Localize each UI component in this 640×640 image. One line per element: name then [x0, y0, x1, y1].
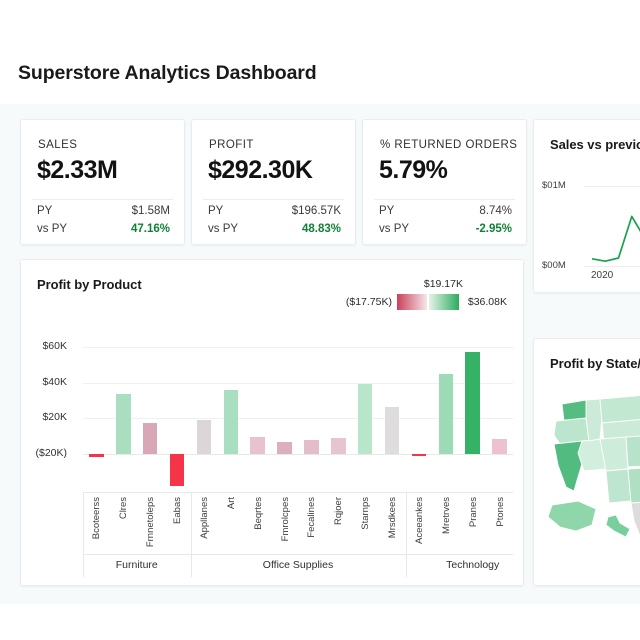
y-axis-tick: ($20K): [35, 447, 67, 459]
bar[interactable]: [170, 454, 185, 486]
legend-high-label: $36.08K: [468, 296, 507, 308]
axis-separator: [191, 493, 192, 555]
category-group-label: Technology: [406, 559, 540, 571]
profit-by-state-panel[interactable]: Profit by State/: [533, 338, 640, 586]
panel-title: Sales vs previo: [550, 137, 640, 152]
legend-ramp-positive: [429, 294, 459, 310]
divider: [32, 199, 173, 200]
x-axis-tick-label: Aceeankes: [414, 497, 425, 544]
map-region[interactable]: [586, 399, 602, 441]
us-choropleth-map[interactable]: [534, 391, 640, 585]
axis-separator: [406, 493, 407, 555]
kpi-comparison-rows: PY $1.58M vs PY 47.16%: [37, 205, 170, 241]
x-axis-tick-label: Mrsdkees: [387, 497, 398, 538]
x-axis-tick-label: Clres: [118, 497, 129, 519]
x-axis-tick-label: Rqjoer: [333, 497, 344, 525]
x-axis-tick: 2020: [591, 270, 613, 281]
bar[interactable]: [250, 437, 265, 454]
bar[interactable]: [277, 442, 292, 455]
kpi-card-sales[interactable]: SALES $2.33M PY $1.58M vs PY 47.16%: [20, 119, 185, 245]
kpi-value: $292.30K: [208, 156, 312, 185]
x-axis-tick-label: Frnnetoleps: [145, 497, 156, 547]
map-svg: [534, 391, 640, 585]
kpi-py-value: 8.74%: [479, 205, 512, 217]
bar-x-axis-labels: BcoteerssClresFrnnetolepsEabasAppllanesA…: [83, 492, 513, 554]
x-axis-tick-label: Pranes: [468, 497, 479, 527]
kpi-value: 5.79%: [379, 156, 447, 185]
kpi-vspy-label: vs PY: [379, 223, 409, 235]
divider: [203, 199, 344, 200]
kpi-card-profit[interactable]: PROFIT $292.30K PY $196.57K vs PY 48.83%: [191, 119, 356, 245]
legend-ramp-negative: [397, 294, 427, 310]
category-group-label: Office Supplies: [191, 559, 406, 571]
kpi-vspy-label: vs PY: [208, 223, 238, 235]
map-region[interactable]: [606, 515, 630, 537]
bar[interactable]: [465, 352, 480, 454]
kpi-vspy-value: 47.16%: [131, 223, 170, 235]
x-axis-tick-label: Appllanes: [199, 497, 210, 539]
legend-mid-label: $19.17K: [424, 278, 463, 290]
kpi-vspy-value: 48.83%: [302, 223, 341, 235]
category-group-label: Furniture: [83, 559, 191, 571]
kpi-value: $2.33M: [37, 156, 117, 185]
y-axis-tick: $40K: [42, 376, 67, 388]
kpi-py-label: PY: [379, 205, 394, 217]
kpi-row-vs-py: vs PY -2.95%: [379, 223, 512, 241]
map-region[interactable]: [600, 395, 640, 423]
legend-color-ramp: [397, 294, 459, 310]
bar[interactable]: [331, 438, 346, 454]
x-axis-tick-label: Beqrtes: [253, 497, 264, 530]
bar[interactable]: [385, 407, 400, 454]
y-axis-tick: $60K: [42, 340, 67, 352]
map-region[interactable]: [626, 435, 640, 467]
y-axis-tick: $20K: [42, 411, 67, 423]
x-axis-tick-label: Bcoteerss: [91, 497, 102, 539]
title-band: [0, 0, 640, 104]
kpi-row-vs-py: vs PY 48.83%: [208, 223, 341, 241]
kpi-py-value: $1.58M: [132, 205, 170, 217]
bar[interactable]: [304, 440, 319, 454]
kpi-py-value: $196.57K: [292, 205, 341, 217]
sparkline-svg: [534, 180, 640, 292]
kpi-row-py: PY $196.57K: [208, 205, 341, 223]
axis-separator: [83, 493, 84, 555]
panel-title: Profit by Product: [37, 277, 142, 292]
kpi-row-py: PY $1.58M: [37, 205, 170, 223]
bar-plot-area[interactable]: $60K$40K$20K($20K): [83, 338, 513, 490]
kpi-vspy-value: -2.95%: [476, 223, 512, 235]
sales-vs-previous-year-panel[interactable]: Sales vs previo $01M$00M2020: [533, 119, 640, 293]
sparkline-plot[interactable]: $01M$00M2020: [534, 180, 640, 292]
x-axis-tick-label: Eabas: [172, 497, 183, 524]
map-region[interactable]: [554, 418, 589, 444]
gridline: [83, 347, 513, 348]
kpi-vspy-label: vs PY: [37, 223, 67, 235]
bar[interactable]: [412, 454, 427, 456]
zero-baseline: [83, 454, 513, 455]
bar[interactable]: [492, 439, 507, 454]
bar[interactable]: [197, 420, 212, 455]
x-axis-tick-label: Fecalines: [306, 497, 317, 538]
bar[interactable]: [358, 384, 373, 454]
x-axis-tick-label: Mretrves: [441, 497, 452, 534]
map-region[interactable]: [548, 501, 596, 531]
kpi-label: SALES: [38, 139, 77, 151]
x-axis-tick-label: Fmrolcpes: [280, 497, 291, 541]
bar[interactable]: [224, 390, 239, 455]
sales-line: [592, 216, 640, 261]
x-axis-tick-label: Ptones: [495, 497, 506, 527]
kpi-py-label: PY: [37, 205, 52, 217]
bar[interactable]: [89, 454, 104, 457]
x-axis-tick-label: Art: [226, 497, 237, 509]
kpi-label: % RETURNED ORDERS: [380, 139, 517, 151]
kpi-label: PROFIT: [209, 139, 254, 151]
bar-category-groups: FurnitureOffice SuppliesTechnology: [83, 554, 513, 576]
kpi-comparison-rows: PY $196.57K vs PY 48.83%: [208, 205, 341, 241]
page-title: Superstore Analytics Dashboard: [18, 62, 317, 85]
legend-low-label: ($17.75K): [346, 296, 392, 308]
profit-by-product-panel[interactable]: Profit by Product ($17.75K) $36.08K $19.…: [20, 259, 524, 586]
kpi-comparison-rows: PY 8.74% vs PY -2.95%: [379, 205, 512, 241]
bar[interactable]: [143, 423, 158, 454]
kpi-row-py: PY 8.74%: [379, 205, 512, 223]
panel-title: Profit by State/: [550, 356, 640, 371]
divider: [374, 199, 515, 200]
kpi-card-returned-orders[interactable]: % RETURNED ORDERS 5.79% PY 8.74% vs PY -…: [362, 119, 527, 245]
kpi-row-vs-py: vs PY 47.16%: [37, 223, 170, 241]
bar[interactable]: [116, 394, 131, 455]
x-axis-tick-label: Starnps: [360, 497, 371, 530]
dashboard-canvas: Superstore Analytics Dashboard SALES $2.…: [0, 0, 640, 604]
kpi-py-label: PY: [208, 205, 223, 217]
bar[interactable]: [439, 374, 454, 454]
map-region[interactable]: [606, 469, 631, 503]
